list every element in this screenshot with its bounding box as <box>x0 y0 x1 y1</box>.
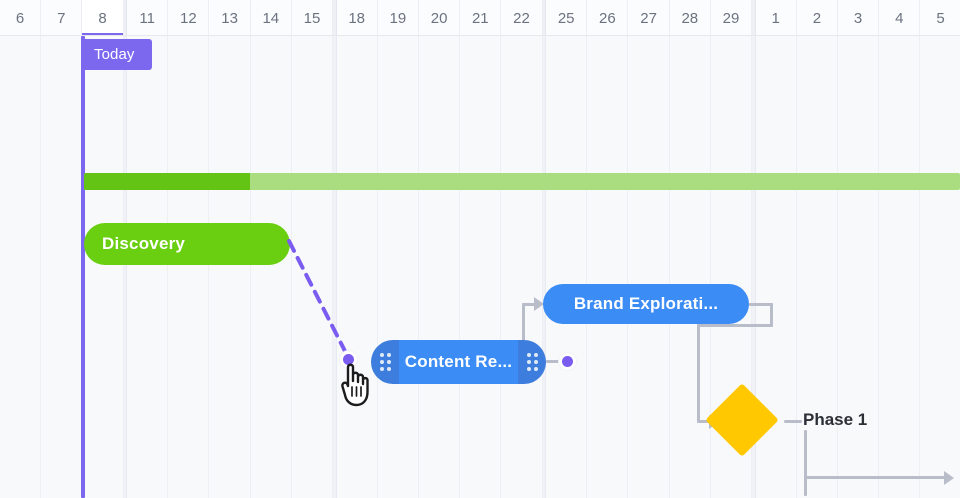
grid-column-18 <box>337 36 378 498</box>
timeline-date-8[interactable]: 8 <box>82 0 123 36</box>
grid-column-20 <box>419 36 460 498</box>
timeline-date-11[interactable]: 11 <box>127 0 168 36</box>
grid-column-21 <box>460 36 501 498</box>
header-baseline <box>0 35 960 36</box>
summary-progress-fill <box>84 173 250 190</box>
task-bar-discovery[interactable]: Discovery <box>84 223 290 265</box>
grid-column-11 <box>127 36 168 498</box>
timeline-date-4[interactable]: 4 <box>879 0 920 36</box>
grid-column-28 <box>670 36 711 498</box>
grid-column-13 <box>210 36 251 498</box>
timeline-date-6[interactable]: 6 <box>0 0 41 36</box>
task-label-brand-exploration: Brand Explorati... <box>574 294 718 314</box>
today-badge: Today <box>82 39 152 70</box>
timeline-date-13[interactable]: 13 <box>210 0 251 36</box>
timeline-date-25[interactable]: 25 <box>546 0 587 36</box>
grid-column-26 <box>587 36 628 498</box>
timeline-date-14[interactable]: 14 <box>251 0 292 36</box>
grid-column-15 <box>292 36 333 498</box>
gantt-chart: 67811121314151819202122252627282912345 T… <box>0 0 960 498</box>
connector-milestone-down-v <box>804 430 807 496</box>
timeline-date-19[interactable]: 19 <box>378 0 419 36</box>
connector-arrowhead-bottom <box>944 471 954 485</box>
timeline-date-28[interactable]: 28 <box>670 0 711 36</box>
timeline-date-27[interactable]: 27 <box>629 0 670 36</box>
timeline-date-7[interactable]: 7 <box>41 0 82 36</box>
timeline-date-3[interactable]: 3 <box>838 0 879 36</box>
connector-brand-to-ms-h <box>697 324 773 327</box>
connector-brand-to-ms-v <box>697 324 700 422</box>
timeline-date-26[interactable]: 26 <box>587 0 628 36</box>
dependency-drag-endpoint[interactable] <box>340 351 357 368</box>
task-bar-brand-exploration[interactable]: Brand Explorati... <box>543 284 749 324</box>
grid-column-4 <box>879 36 920 498</box>
timeline-date-21[interactable]: 21 <box>460 0 501 36</box>
task-label-discovery: Discovery <box>102 234 185 254</box>
milestone-stem <box>784 420 802 423</box>
summary-progress-bar[interactable] <box>84 173 960 190</box>
timeline-date-29[interactable]: 29 <box>711 0 752 36</box>
grid-column-14 <box>251 36 292 498</box>
dependency-endpoint-right[interactable] <box>559 353 576 370</box>
timeline-date-18[interactable]: 18 <box>337 0 378 36</box>
timeline-date-1[interactable]: 1 <box>756 0 797 36</box>
grid-column-19 <box>378 36 419 498</box>
timeline-date-22[interactable]: 22 <box>501 0 542 36</box>
timeline-date-15[interactable]: 15 <box>292 0 333 36</box>
grid-column-22 <box>501 36 542 498</box>
grid-column-25 <box>546 36 587 498</box>
grid-column-7 <box>41 36 82 498</box>
milestone-label-phase-1: Phase 1 <box>803 410 867 430</box>
timeline-date-2[interactable]: 2 <box>797 0 838 36</box>
task-bar-content-review[interactable]: Content Re... <box>371 340 546 384</box>
today-line <box>81 36 85 498</box>
timeline-date-20[interactable]: 20 <box>419 0 460 36</box>
task-label-content-review: Content Re... <box>371 340 546 384</box>
timeline-header: 67811121314151819202122252627282912345 <box>0 0 960 36</box>
connector-bottom-h <box>804 476 948 479</box>
grid-column-12 <box>168 36 209 498</box>
timeline-date-5[interactable]: 5 <box>920 0 960 36</box>
grid-column-5 <box>920 36 960 498</box>
grid-column-27 <box>629 36 670 498</box>
timeline-date-12[interactable]: 12 <box>168 0 209 36</box>
grid-column-8 <box>82 36 123 498</box>
grid-column-6 <box>0 36 41 498</box>
